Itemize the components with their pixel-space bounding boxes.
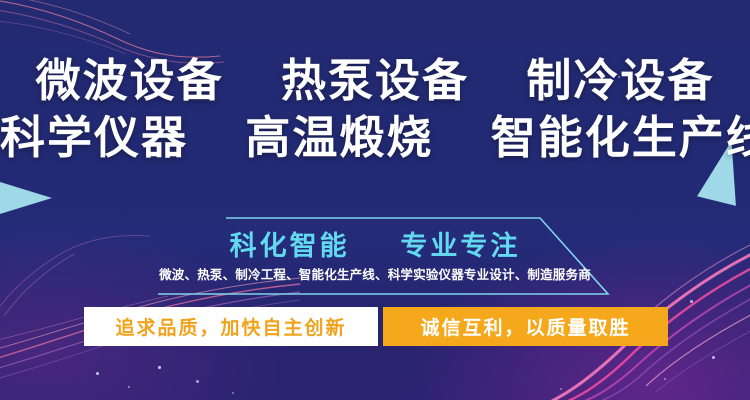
subtitle-left: 科化智能	[230, 231, 350, 262]
headline-word-1: 微波设备	[36, 54, 224, 107]
headline-line-1: 微波设备 热泵设备 制冷设备	[0, 58, 750, 103]
headline-word-5: 高温煅烧	[245, 111, 433, 164]
headline-word-4: 科学仪器	[0, 111, 188, 164]
subtitle-description: 微波、热泵、制冷工程、智能化生产线、科学实验仪器专业设计、制造服务商	[0, 264, 750, 283]
slogan-right-text: 诚信互利，以质量取胜	[420, 313, 630, 340]
sparkle-dot	[560, 388, 562, 390]
headline-word-6: 智能化生产线	[491, 111, 750, 164]
subtitle: 科化智能 专业专注	[0, 224, 750, 263]
sparkle-dot	[232, 392, 234, 394]
triangle-right-icon	[0, 182, 52, 214]
sparkle-dot	[158, 366, 161, 369]
sparkle-dot	[96, 372, 99, 375]
sparkle-dot	[664, 378, 666, 380]
headline-line-2: 科学仪器 高温煅烧 智能化生产线	[0, 115, 750, 160]
headline: 微波设备 热泵设备 制冷设备 科学仪器 高温煅烧 智能化生产线	[0, 58, 750, 160]
promo-banner: 微波设备 热泵设备 制冷设备 科学仪器 高温煅烧 智能化生产线 科化智能 专业专…	[0, 0, 750, 400]
sparkle-dot	[690, 300, 693, 303]
sparkle-dot	[712, 356, 715, 359]
subtitle-right: 专业专注	[400, 231, 520, 262]
sparkle-dot	[196, 380, 199, 383]
headline-word-2: 热泵设备	[281, 54, 469, 107]
headline-word-3: 制冷设备	[526, 54, 714, 107]
sparkle-dot	[128, 386, 130, 388]
slogan-bar-right: 诚信互利，以质量取胜	[383, 307, 668, 346]
slogan-left-text: 追求品质，加快自主创新	[115, 313, 346, 340]
slogan-bar-left: 追求品质，加快自主创新	[84, 307, 378, 346]
